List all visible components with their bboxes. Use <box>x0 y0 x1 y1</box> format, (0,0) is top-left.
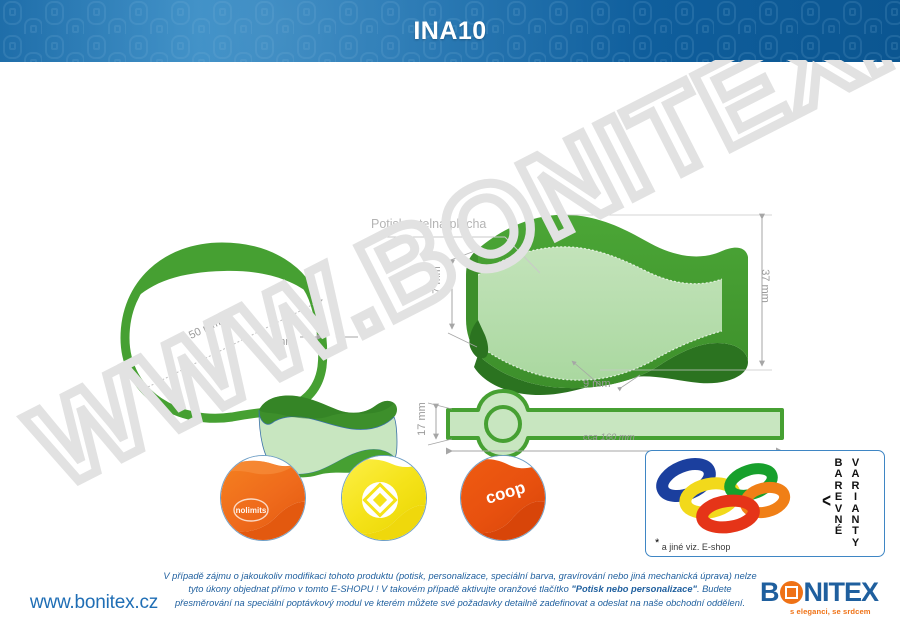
sample-orange-nolimits[interactable]: nolimits <box>220 455 306 541</box>
sample-photo-2 <box>342 456 426 540</box>
variants-arrow-icon: < <box>822 491 831 513</box>
variants-note: * a jiné viz. E-shop <box>655 537 730 552</box>
variants-title: BAREVNÉ VARIANTY <box>832 458 878 550</box>
variants-note-text: a jiné viz. E-shop <box>662 542 731 552</box>
bonitex-logo[interactable]: B NITEX s eleganci, se srdcem <box>760 577 895 623</box>
svg-text:nolimits: nolimits <box>236 506 267 515</box>
footer-note-strong: "Potisk nebo personalizace" <box>571 584 697 594</box>
brand-tagline: s eleganci, se srdcem <box>790 607 871 616</box>
variants-title-left: BAREVNÉ <box>832 458 845 538</box>
brand-text-nitex: NITEX <box>804 577 879 607</box>
brand-o-icon <box>780 581 803 604</box>
sample-photo-3: coop <box>461 456 545 540</box>
footer-note-line1: V případě zájmu o jakoukoliv modifikaci … <box>163 571 645 581</box>
sample-photos: nolimits coop <box>0 0 900 500</box>
sample-orange-coop[interactable]: coop <box>460 455 546 541</box>
footer-note-line4: detailně zadefinovat a odeslat na naše o… <box>505 598 745 608</box>
page-footer: www.bonitex.cz V případě zájmu o jakouko… <box>0 565 900 633</box>
sample-photo-1: nolimits <box>221 456 305 540</box>
footer-url-link[interactable]: www.bonitex.cz <box>14 592 174 614</box>
sample-yellow-square[interactable] <box>341 455 427 541</box>
footer-disclaimer: V případě zájmu o jakoukoliv modifikaci … <box>160 570 760 610</box>
variants-note-marker: * <box>655 537 659 549</box>
brand-text-b: B <box>760 577 779 607</box>
variants-title-right: VARIANTY <box>849 458 862 549</box>
color-bracelets-photo <box>652 456 792 534</box>
color-variants-box[interactable]: < BAREVNÉ VARIANTY * a jiné viz. E-shop <box>645 450 885 557</box>
